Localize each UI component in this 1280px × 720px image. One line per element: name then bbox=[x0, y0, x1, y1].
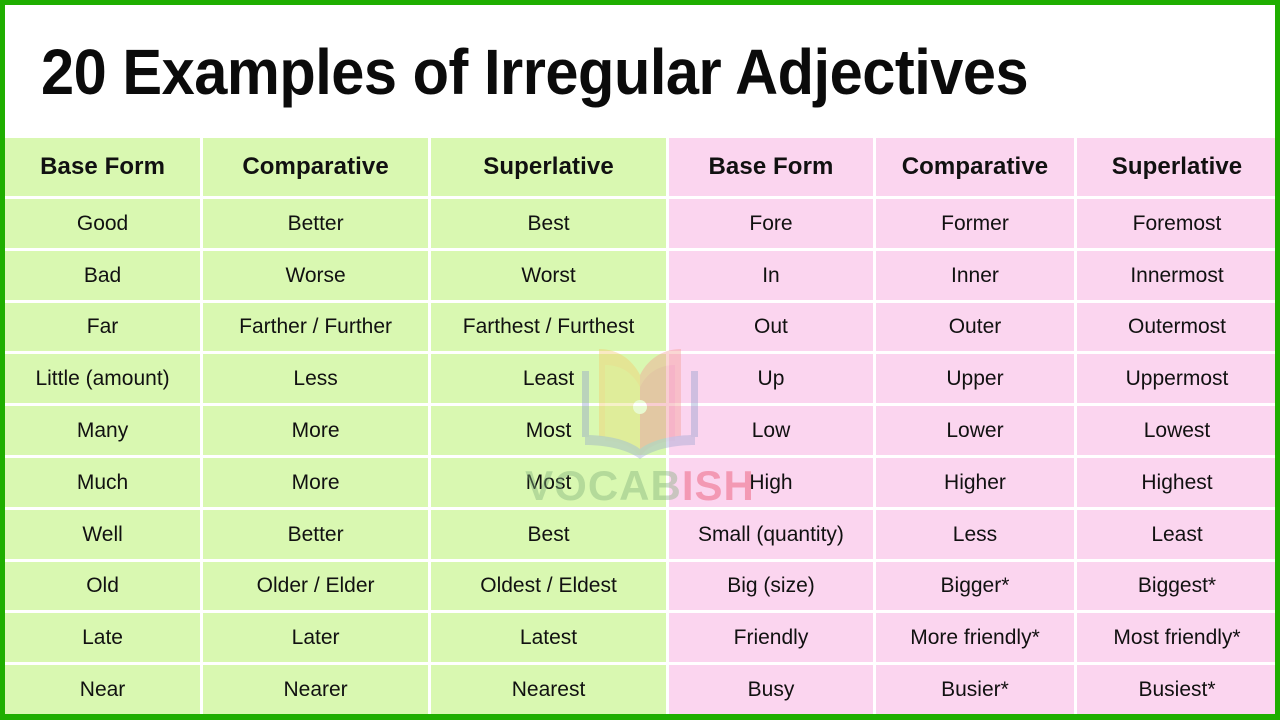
cell-base-form: Fore bbox=[669, 199, 873, 248]
cell-base-form: Big (size) bbox=[669, 562, 873, 611]
cell-superlative: Least bbox=[431, 354, 666, 403]
cell-superlative: Highest bbox=[1077, 458, 1277, 507]
irregular-adjectives-table-left: Base Form Comparative Superlative Good B… bbox=[5, 138, 666, 714]
cell-comparative: Inner bbox=[876, 251, 1074, 300]
cell-comparative: Farther / Further bbox=[203, 303, 428, 352]
column-header-comparative: Comparative bbox=[876, 138, 1074, 196]
table-row: Low Lower Lowest bbox=[669, 406, 1277, 455]
table-row: Small (quantity) Less Least bbox=[669, 510, 1277, 559]
cell-comparative: Later bbox=[203, 613, 428, 662]
cell-superlative: Uppermost bbox=[1077, 354, 1277, 403]
table-row: Busy Busier* Busiest* bbox=[669, 665, 1277, 714]
cell-base-form: Good bbox=[5, 199, 200, 248]
cell-base-form: Bad bbox=[5, 251, 200, 300]
cell-base-form: Small (quantity) bbox=[669, 510, 873, 559]
cell-superlative: Biggest* bbox=[1077, 562, 1277, 611]
cell-base-form: High bbox=[669, 458, 873, 507]
cell-comparative: More bbox=[203, 406, 428, 455]
cell-comparative: Outer bbox=[876, 303, 1074, 352]
table-row: Bad Worse Worst bbox=[5, 251, 666, 300]
table-row: Many More Most bbox=[5, 406, 666, 455]
table-row: Good Better Best bbox=[5, 199, 666, 248]
cell-comparative: Former bbox=[876, 199, 1074, 248]
table-row: Far Farther / Further Farthest / Furthes… bbox=[5, 303, 666, 352]
cell-base-form: Low bbox=[669, 406, 873, 455]
cell-base-form: Late bbox=[5, 613, 200, 662]
cell-superlative: Least bbox=[1077, 510, 1277, 559]
poster-root: 20 Examples of Irregular Adjectives Base… bbox=[0, 0, 1280, 720]
table-row: Much More Most bbox=[5, 458, 666, 507]
cell-comparative: Higher bbox=[876, 458, 1074, 507]
cell-superlative: Lowest bbox=[1077, 406, 1277, 455]
cell-superlative: Foremost bbox=[1077, 199, 1277, 248]
cell-base-form: Many bbox=[5, 406, 200, 455]
cell-base-form: In bbox=[669, 251, 873, 300]
cell-comparative: Less bbox=[203, 354, 428, 403]
cell-base-form: Old bbox=[5, 562, 200, 611]
cell-superlative: Oldest / Eldest bbox=[431, 562, 666, 611]
cell-comparative: Older / Elder bbox=[203, 562, 428, 611]
cell-superlative: Most bbox=[431, 406, 666, 455]
table-row: Old Older / Elder Oldest / Eldest bbox=[5, 562, 666, 611]
cell-comparative: Bigger* bbox=[876, 562, 1074, 611]
cell-base-form: Busy bbox=[669, 665, 873, 714]
cell-base-form: Well bbox=[5, 510, 200, 559]
column-header-superlative: Superlative bbox=[431, 138, 666, 196]
irregular-adjectives-table-right: Base Form Comparative Superlative Fore F… bbox=[669, 138, 1277, 714]
table-row: In Inner Innermost bbox=[669, 251, 1277, 300]
cell-base-form: Friendly bbox=[669, 613, 873, 662]
table-row: Little (amount) Less Least bbox=[5, 354, 666, 403]
cell-comparative: Lower bbox=[876, 406, 1074, 455]
table-row: Friendly More friendly* Most friendly* bbox=[669, 613, 1277, 662]
cell-base-form: Up bbox=[669, 354, 873, 403]
cell-comparative: Busier* bbox=[876, 665, 1074, 714]
cell-comparative: Worse bbox=[203, 251, 428, 300]
table-header-row: Base Form Comparative Superlative bbox=[669, 138, 1277, 196]
cell-superlative: Most bbox=[431, 458, 666, 507]
cell-base-form: Near bbox=[5, 665, 200, 714]
cell-comparative: More bbox=[203, 458, 428, 507]
table-row: Late Later Latest bbox=[5, 613, 666, 662]
page-title: 20 Examples of Irregular Adjectives bbox=[41, 40, 1028, 104]
column-header-base-form: Base Form bbox=[5, 138, 200, 196]
cell-superlative: Most friendly* bbox=[1077, 613, 1277, 662]
tables-container: Base Form Comparative Superlative Good B… bbox=[5, 138, 1275, 714]
table-row: Near Nearer Nearest bbox=[5, 665, 666, 714]
cell-superlative: Outermost bbox=[1077, 303, 1277, 352]
table-row: Up Upper Uppermost bbox=[669, 354, 1277, 403]
cell-base-form: Out bbox=[669, 303, 873, 352]
table-row: Well Better Best bbox=[5, 510, 666, 559]
cell-superlative: Best bbox=[431, 199, 666, 248]
table-header-row: Base Form Comparative Superlative bbox=[5, 138, 666, 196]
cell-comparative: Nearer bbox=[203, 665, 428, 714]
cell-superlative: Worst bbox=[431, 251, 666, 300]
table-row: High Higher Highest bbox=[669, 458, 1277, 507]
table-row: Fore Former Foremost bbox=[669, 199, 1277, 248]
cell-base-form: Much bbox=[5, 458, 200, 507]
cell-superlative: Farthest / Furthest bbox=[431, 303, 666, 352]
cell-comparative: Less bbox=[876, 510, 1074, 559]
cell-comparative: More friendly* bbox=[876, 613, 1074, 662]
cell-superlative: Innermost bbox=[1077, 251, 1277, 300]
table-row: Out Outer Outermost bbox=[669, 303, 1277, 352]
column-header-superlative: Superlative bbox=[1077, 138, 1277, 196]
cell-superlative: Nearest bbox=[431, 665, 666, 714]
title-bar: 20 Examples of Irregular Adjectives bbox=[5, 5, 1275, 138]
cell-superlative: Busiest* bbox=[1077, 665, 1277, 714]
cell-base-form: Far bbox=[5, 303, 200, 352]
cell-superlative: Latest bbox=[431, 613, 666, 662]
column-header-base-form: Base Form bbox=[669, 138, 873, 196]
cell-comparative: Better bbox=[203, 510, 428, 559]
cell-superlative: Best bbox=[431, 510, 666, 559]
column-header-comparative: Comparative bbox=[203, 138, 428, 196]
cell-comparative: Upper bbox=[876, 354, 1074, 403]
cell-base-form: Little (amount) bbox=[5, 354, 200, 403]
table-row: Big (size) Bigger* Biggest* bbox=[669, 562, 1277, 611]
cell-comparative: Better bbox=[203, 199, 428, 248]
